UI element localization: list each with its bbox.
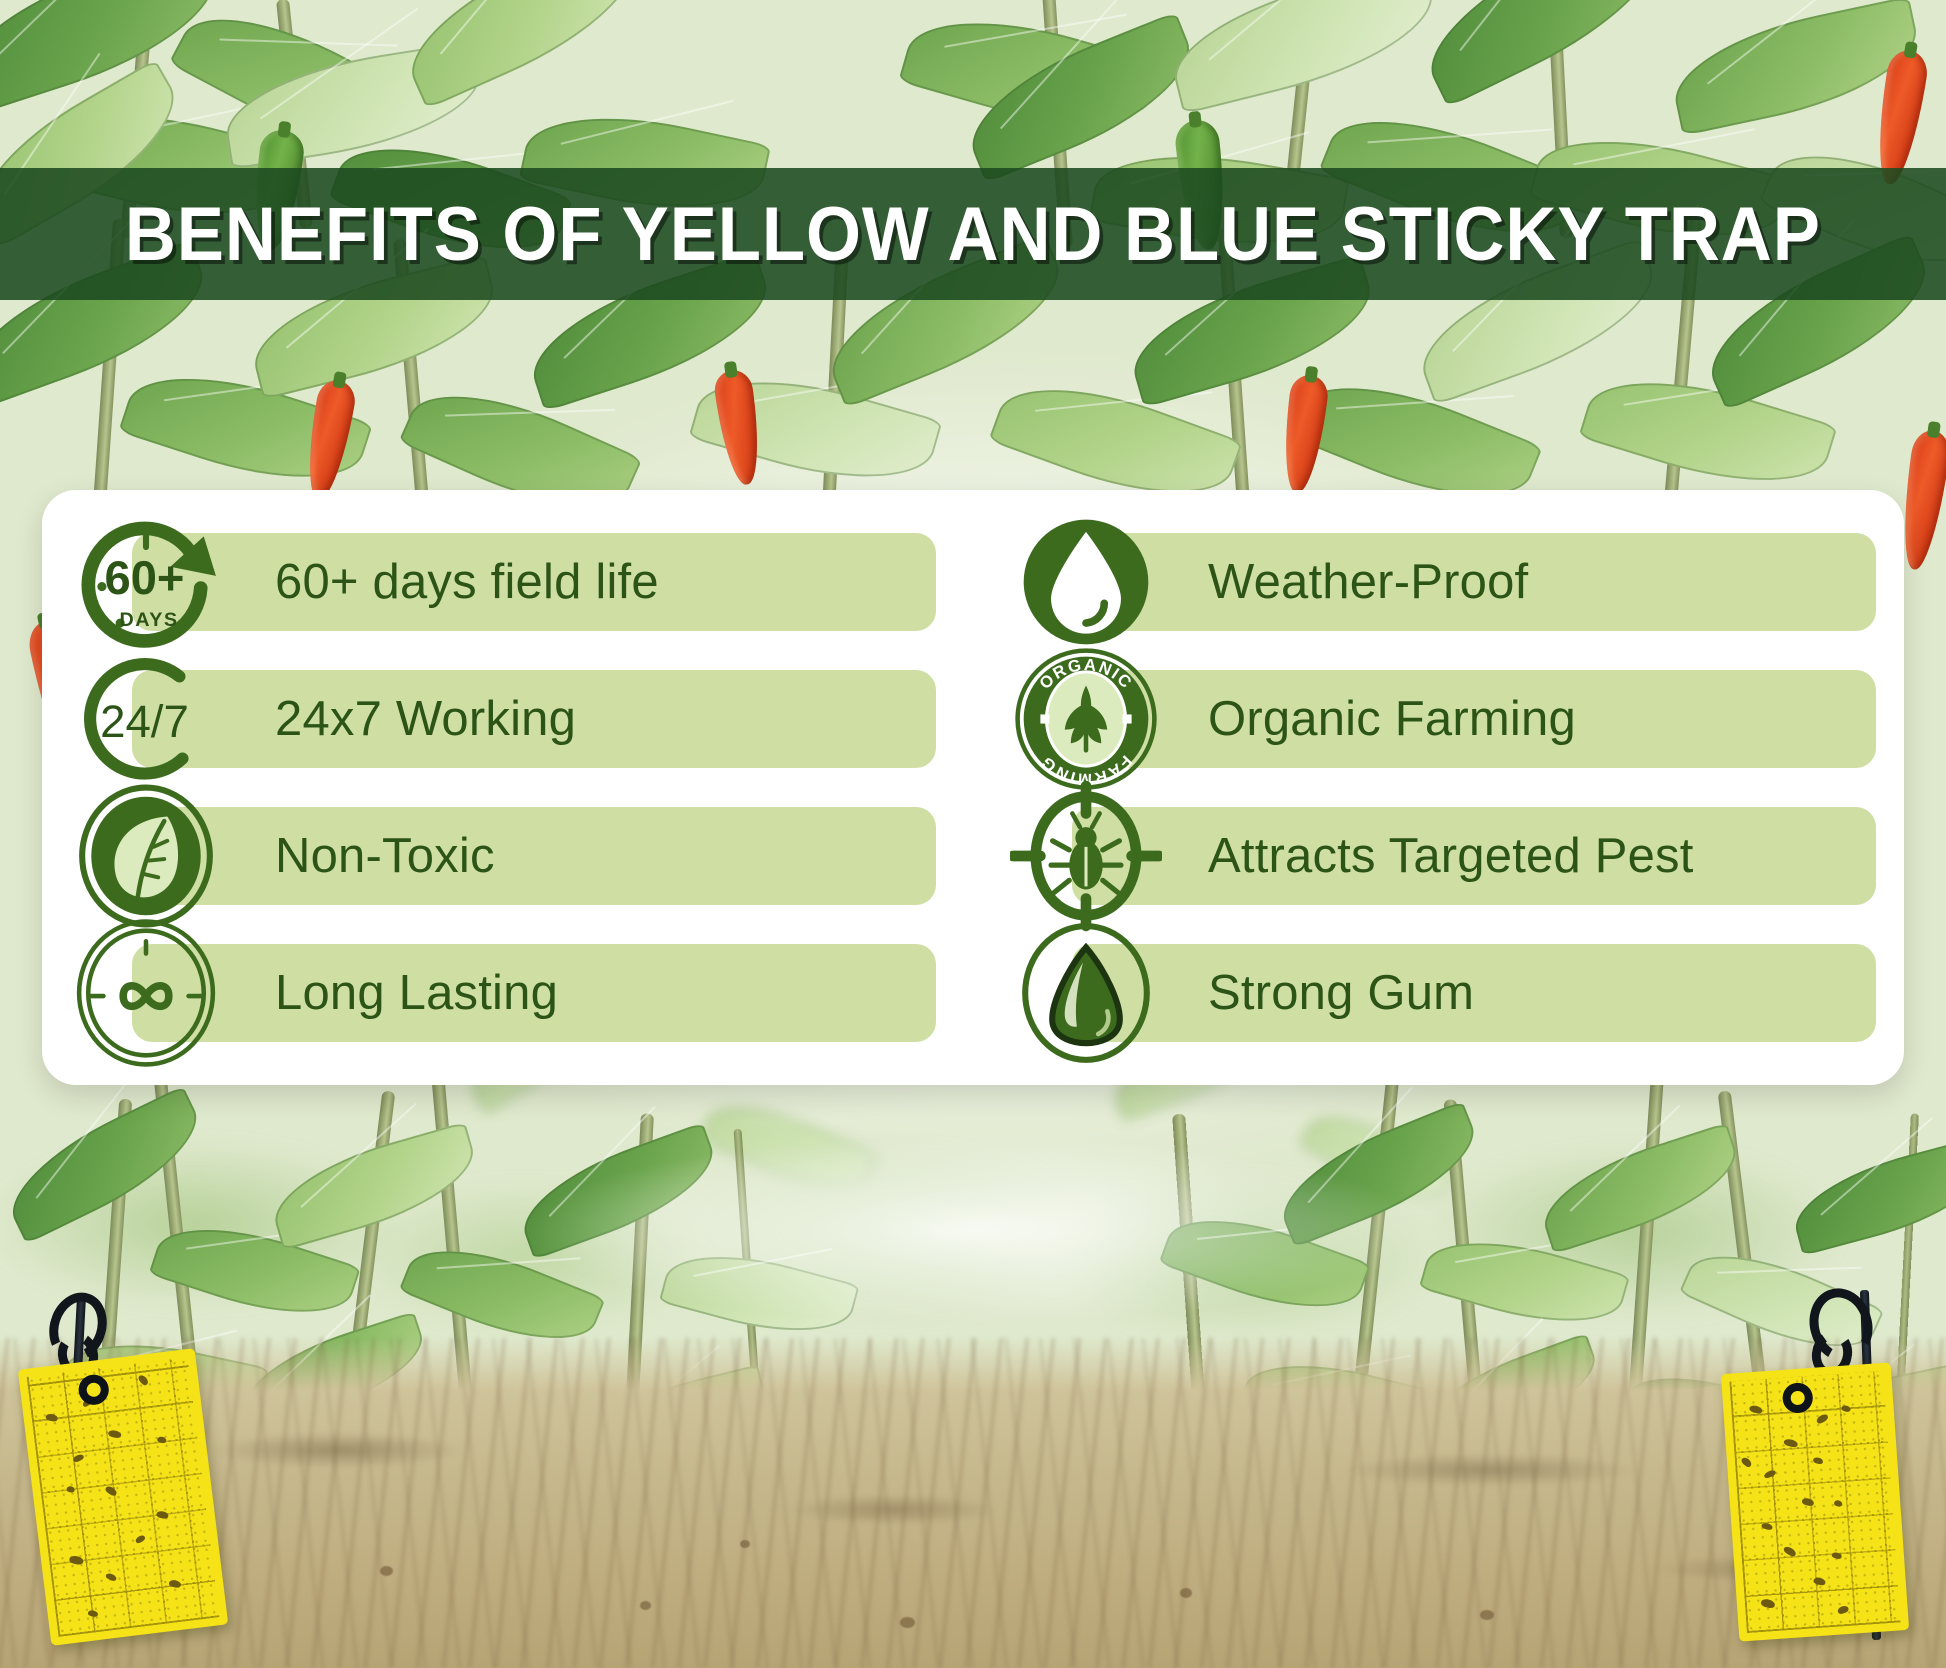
feature-label: Non-Toxic [275, 828, 495, 884]
pebble [1180, 1588, 1192, 1598]
feature-label: Attracts Targeted Pest [1208, 828, 1694, 884]
pebble [740, 1540, 750, 1548]
trap-dots-left [27, 1357, 220, 1637]
feature-label: Organic Farming [1208, 691, 1576, 747]
page-title: BENEFITS OF YELLOW AND BLUE STICKY TRAP [125, 191, 1821, 278]
feature-label: 24x7 Working [275, 691, 576, 747]
feature-60-days-field-life[interactable]: 60+ DAYS 60+ days field life [70, 522, 936, 642]
feature-organic-farming[interactable]: ORGANIC FARMING [1010, 659, 1876, 779]
benefits-grid: 60+ DAYS 60+ days field life Weather-Pro… [70, 522, 1876, 1053]
feature-non-toxic[interactable]: Non-Toxic [70, 796, 936, 916]
organic-seal-icon: ORGANIC FARMING [1010, 643, 1162, 795]
svg-text:60+: 60+ [105, 551, 185, 604]
infinity-icon [70, 917, 222, 1069]
pebble [640, 1601, 651, 1610]
gum-blob-icon [1010, 917, 1162, 1069]
feature-pill [132, 807, 936, 905]
feature-label: 60+ days field life [275, 554, 659, 610]
dirt-path [0, 1338, 1946, 1668]
pebble [380, 1566, 393, 1576]
24-7-clock-icon: 24/7 [70, 643, 222, 795]
feature-24x7-working[interactable]: 24/7 24x7 Working [70, 659, 936, 779]
feature-strong-gum[interactable]: Strong Gum [1010, 933, 1876, 1053]
feature-label: Long Lasting [275, 965, 558, 1021]
target-bug-icon [1010, 780, 1162, 932]
leaf-shield-icon [70, 780, 222, 932]
yellow-sticky-trap-left [20, 1330, 280, 1660]
svg-text:DAYS: DAYS [119, 609, 178, 631]
feature-attracts-targeted-pest[interactable]: Attracts Targeted Pest [1010, 796, 1876, 916]
feature-label: Weather-Proof [1208, 554, 1528, 610]
trap-card-left [18, 1348, 229, 1646]
60-days-cycle-icon: 60+ DAYS [70, 506, 222, 658]
feature-long-lasting[interactable]: Long Lasting [70, 933, 936, 1053]
benefits-card: 60+ DAYS 60+ days field life Weather-Pro… [42, 490, 1904, 1085]
feature-label: Strong Gum [1208, 965, 1474, 1021]
infographic-root: BENEFITS OF YELLOW AND BLUE STICKY TRAP [0, 0, 1946, 1668]
water-drop-icon [1010, 506, 1162, 658]
pebble [900, 1617, 915, 1628]
yellow-sticky-trap-right [1718, 1330, 1946, 1660]
title-banner: BENEFITS OF YELLOW AND BLUE STICKY TRAP [0, 168, 1946, 300]
feature-weather-proof[interactable]: Weather-Proof [1010, 522, 1876, 642]
svg-text:24/7: 24/7 [100, 696, 189, 747]
pebble [1480, 1610, 1494, 1620]
trap-card-right [1721, 1362, 1909, 1641]
